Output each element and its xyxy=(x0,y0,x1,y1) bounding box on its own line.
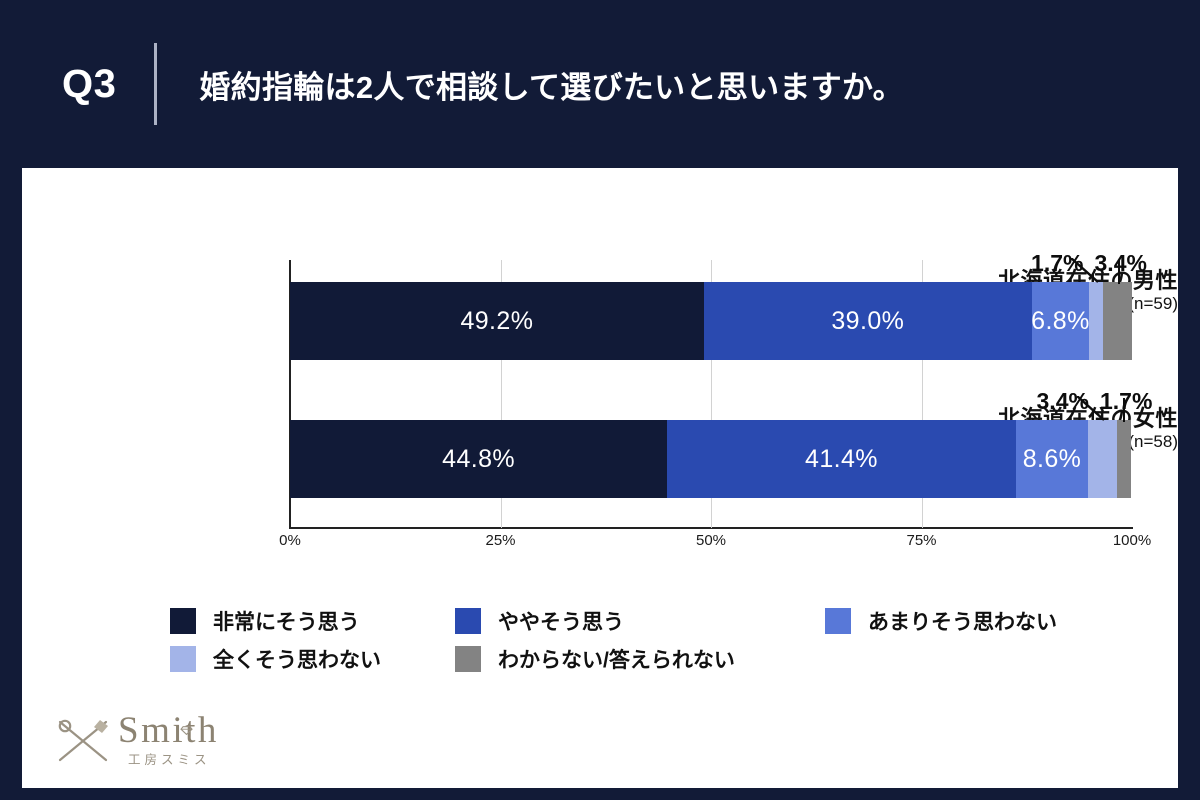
legend-swatch-icon-3 xyxy=(170,646,196,672)
x-tick-label-2: 50% xyxy=(696,532,726,549)
plot-area: 0%25%50%75%100% 49.2%39.0%6.8%1.7%3.4% 4… xyxy=(290,260,1132,528)
legend-row-top: 非常にそう思う ややそう思う あまりそう思わない xyxy=(170,606,1170,636)
table-row: 44.8%41.4%8.6%3.4%1.7% xyxy=(290,420,1132,498)
callout-leader-r1-s4 xyxy=(1123,398,1125,422)
chart-card: 北海道在住の男性 (n=59) 北海道在住の女性 (n=58) 0%25%50%… xyxy=(22,168,1178,788)
diamond-icon xyxy=(180,705,193,714)
legend-label-0: 非常にそう思う xyxy=(213,606,360,636)
callout-label-r0-s4: 3.4% xyxy=(1095,250,1147,277)
bar-segment-r0-s1: 39.0% xyxy=(704,282,1032,360)
question-title: 婚約指輪は2人で相談して選びたいと思いますか。 xyxy=(199,62,904,107)
x-tick-label-1: 25% xyxy=(485,532,515,549)
bar-segment-r1-s4: 1.7% xyxy=(1117,420,1131,498)
slide-header: Q3 婚約指輪は2人で相談して選びたいと思いますか。 xyxy=(0,0,1200,168)
legend-label-4: わからない/答えられない xyxy=(498,644,735,674)
legend-row-bottom: 全くそう思わない わからない/答えられない xyxy=(170,644,1170,674)
brand-logo: Smith 工房スミス xyxy=(56,706,286,774)
legend-item-0[interactable]: 非常にそう思う xyxy=(170,606,455,636)
legend-swatch-icon-4 xyxy=(455,646,481,672)
logo-wordmark: Smith xyxy=(118,712,219,749)
logo-text-group: Smith 工房スミス xyxy=(118,712,219,769)
x-tick-label-0: 0% xyxy=(279,532,301,549)
question-number: Q3 xyxy=(62,64,116,104)
logo-word-text: Smith xyxy=(118,710,219,751)
x-tick-label-4: 100% xyxy=(1113,532,1151,549)
legend-item-4[interactable]: わからない/答えられない xyxy=(455,644,825,674)
legend-label-1: ややそう思う xyxy=(498,606,624,636)
table-row: 49.2%39.0%6.8%1.7%3.4% xyxy=(290,282,1132,360)
legend-swatch-icon-0 xyxy=(170,608,196,634)
header-divider xyxy=(154,43,157,125)
callout-leader-r0-s4 xyxy=(1118,260,1120,284)
crossed-jeweler-tools-icon xyxy=(56,714,114,766)
legend-item-3[interactable]: 全くそう思わない xyxy=(170,644,455,674)
infographic-slide: Q3 婚約指輪は2人で相談して選びたいと思いますか。 北海道在住の男性 (n=5… xyxy=(0,0,1200,800)
stacked-bar-chart: 北海道在住の男性 (n=59) 北海道在住の女性 (n=58) 0%25%50%… xyxy=(22,168,1178,588)
legend-swatch-icon-2 xyxy=(825,608,851,634)
legend-label-2: あまりそう思わない xyxy=(868,606,1057,636)
legend-item-2[interactable]: あまりそう思わない xyxy=(825,606,1105,636)
bar-segment-r0-s0: 49.2% xyxy=(290,282,704,360)
legend-label-3: 全くそう思わない xyxy=(213,644,381,674)
bar-segment-r1-s0: 44.8% xyxy=(290,420,667,498)
legend-item-1[interactable]: ややそう思う xyxy=(455,606,825,636)
chart-legend: 非常にそう思う ややそう思う あまりそう思わない 全くそう思わない xyxy=(170,606,1170,682)
bar-segment-r1-s1: 41.4% xyxy=(667,420,1016,498)
callout-label-r1-s4: 1.7% xyxy=(1100,388,1152,415)
logo-subtitle: 工房スミス xyxy=(128,753,211,767)
x-tick-label-3: 75% xyxy=(906,532,936,549)
legend-swatch-icon-1 xyxy=(455,608,481,634)
bar-segment-r0-s4: 3.4% xyxy=(1103,282,1132,360)
